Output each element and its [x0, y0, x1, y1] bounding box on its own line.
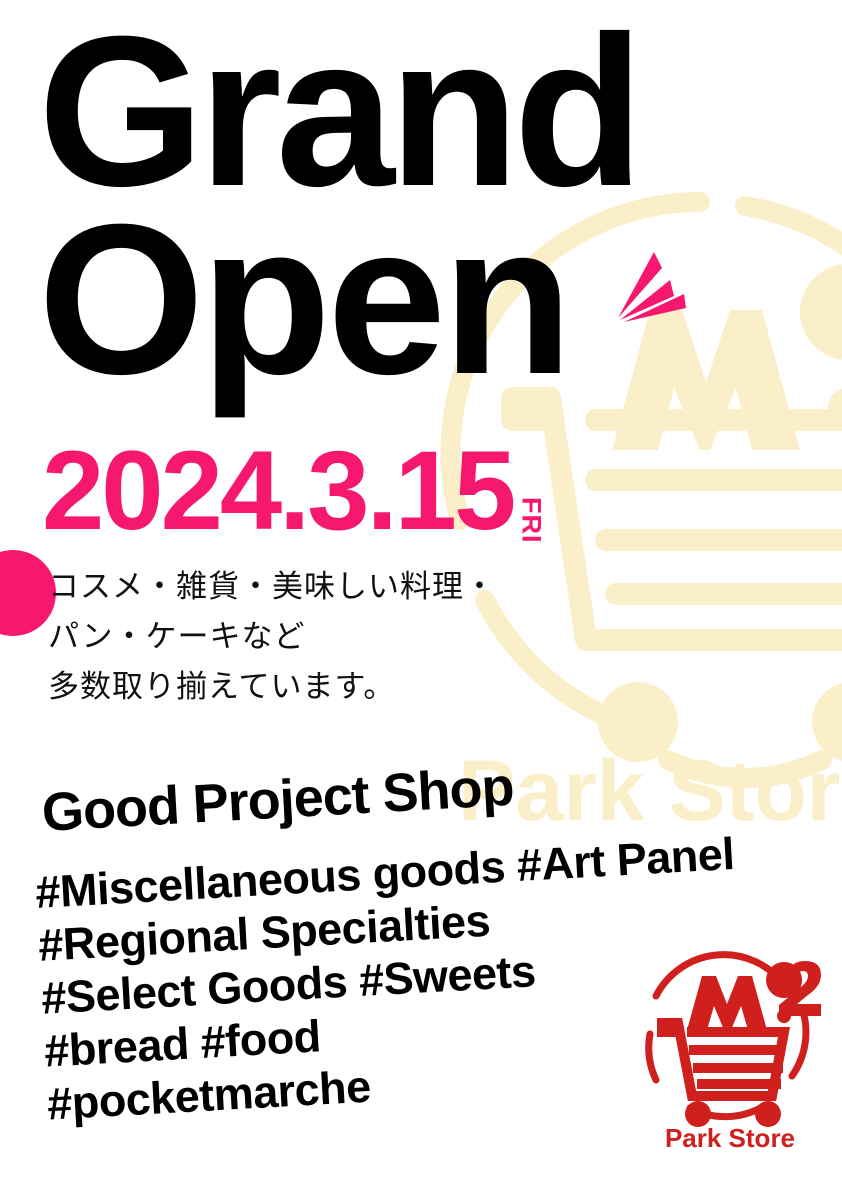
description-line-3: 多数取り揃えています。: [48, 662, 496, 712]
mo2-park-store-logo: Park Store: [632, 938, 828, 1152]
description-line-1: コスメ・雑貨・美味しい料理・: [48, 562, 496, 612]
description-line-2: パン・ケーキなど: [48, 612, 496, 662]
headline: Grand Open: [38, 18, 638, 395]
shop-title: Good Project Shop: [40, 760, 514, 840]
description-text: コスメ・雑貨・美味しい料理・ パン・ケーキなど 多数取り揃えています。: [48, 562, 496, 713]
poster-canvas: Park Stor Grand Open 2024.3.15 FRI コスメ・雑…: [0, 0, 842, 1191]
headline-line-grand: Grand: [38, 18, 638, 206]
logo-mo2-text: [687, 961, 821, 1030]
headline-line-open: Open: [38, 206, 638, 394]
logo-wordmark: Park Store: [665, 1123, 795, 1152]
open-date-value: 2024.3.15: [42, 435, 513, 547]
watermark-wordmark: Park Stor: [458, 743, 840, 839]
open-date-day-of-week: FRI: [517, 497, 544, 544]
open-date: 2024.3.15 FRI: [42, 435, 544, 547]
pink-burst-icon: [612, 246, 702, 324]
